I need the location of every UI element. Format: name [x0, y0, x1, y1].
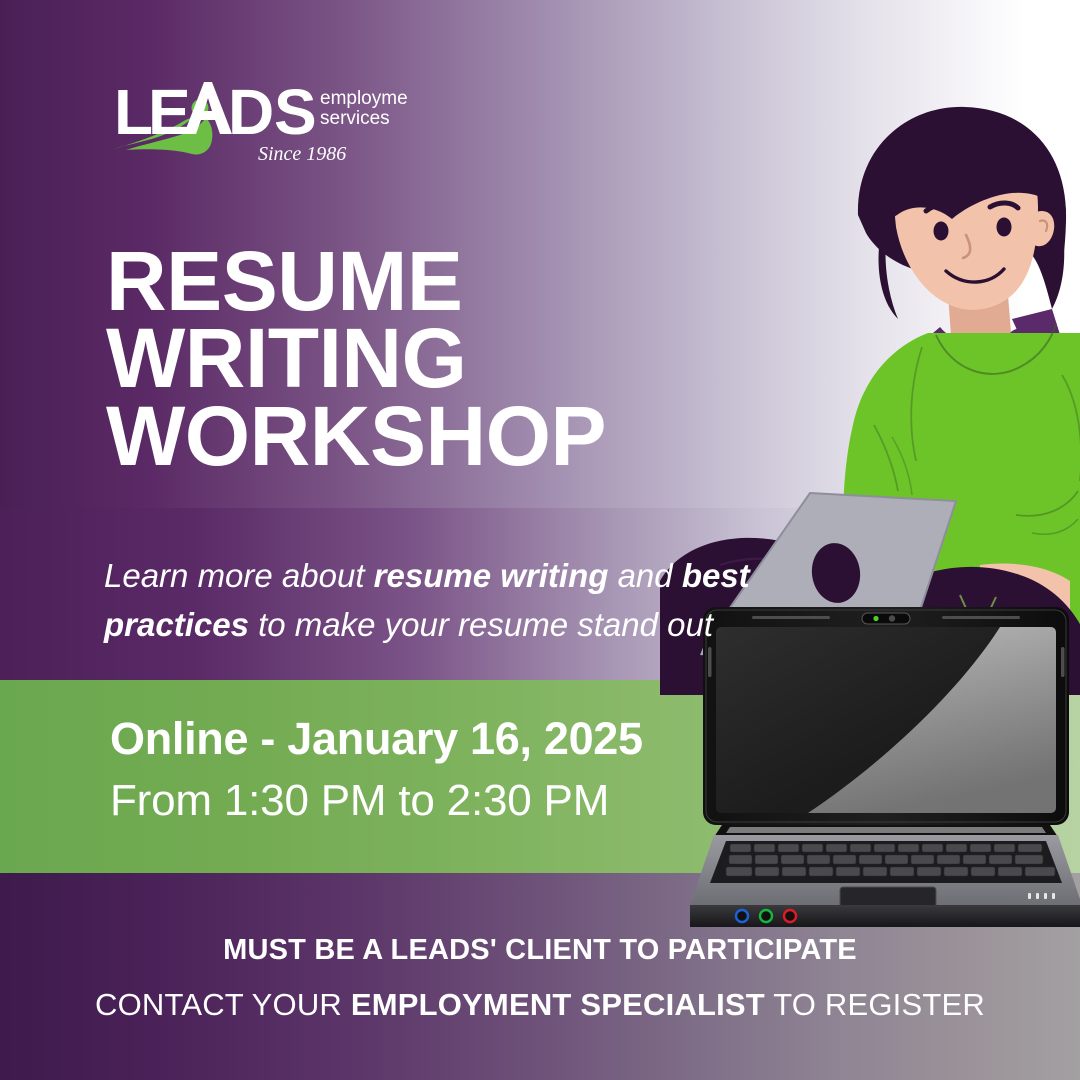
svg-text:D: D: [228, 76, 272, 148]
footer-line-2: CONTACT YOUR EMPLOYMENT SPECIALIST TO RE…: [0, 984, 1080, 1026]
svg-text:L: L: [114, 76, 152, 148]
svg-text:S: S: [274, 76, 315, 148]
footer-line2-part-1: CONTACT YOUR: [95, 987, 351, 1022]
logo-tagline-line1: employment: [320, 88, 408, 109]
event-date-line: Online - January 16, 2025: [110, 712, 643, 765]
subtitle-bold-1: resume writing: [374, 557, 609, 594]
svg-text:E: E: [148, 76, 189, 148]
footer-notice: MUST BE A LEADS' CLIENT TO PARTICIPATE C…: [0, 932, 1080, 1026]
headline-line-1: RESUME: [106, 243, 606, 320]
subtitle-part-2: and: [608, 557, 681, 594]
headline-line-2: WRITING: [106, 320, 606, 397]
open-laptop-photo: [690, 605, 1080, 935]
page-title: RESUME WRITING WORKSHOP: [106, 243, 606, 475]
logo-tagline-line2: services: [320, 108, 390, 129]
poster-canvas: L E D S employment services Since 1986 R…: [0, 0, 1080, 1080]
logo-since-text: Since 1986: [258, 143, 346, 165]
footer-line-1: MUST BE A LEADS' CLIENT TO PARTICIPATE: [0, 932, 1080, 970]
subtitle-part-3: to make your resume stand out: [249, 606, 713, 643]
subtitle-text: Learn more about resume writing and best…: [104, 552, 784, 650]
event-time-line: From 1:30 PM to 2:30 PM: [110, 773, 643, 828]
footer-line2-part-2: TO REGISTER: [765, 987, 985, 1022]
headline-line-3: WORKSHOP: [106, 398, 606, 475]
footer-line2-bold: EMPLOYMENT SPECIALIST: [351, 987, 765, 1022]
leads-logo: L E D S employment services Since 1986: [108, 72, 408, 168]
subtitle-part-1: Learn more about: [104, 557, 374, 594]
event-datetime: Online - January 16, 2025 From 1:30 PM t…: [110, 712, 643, 828]
